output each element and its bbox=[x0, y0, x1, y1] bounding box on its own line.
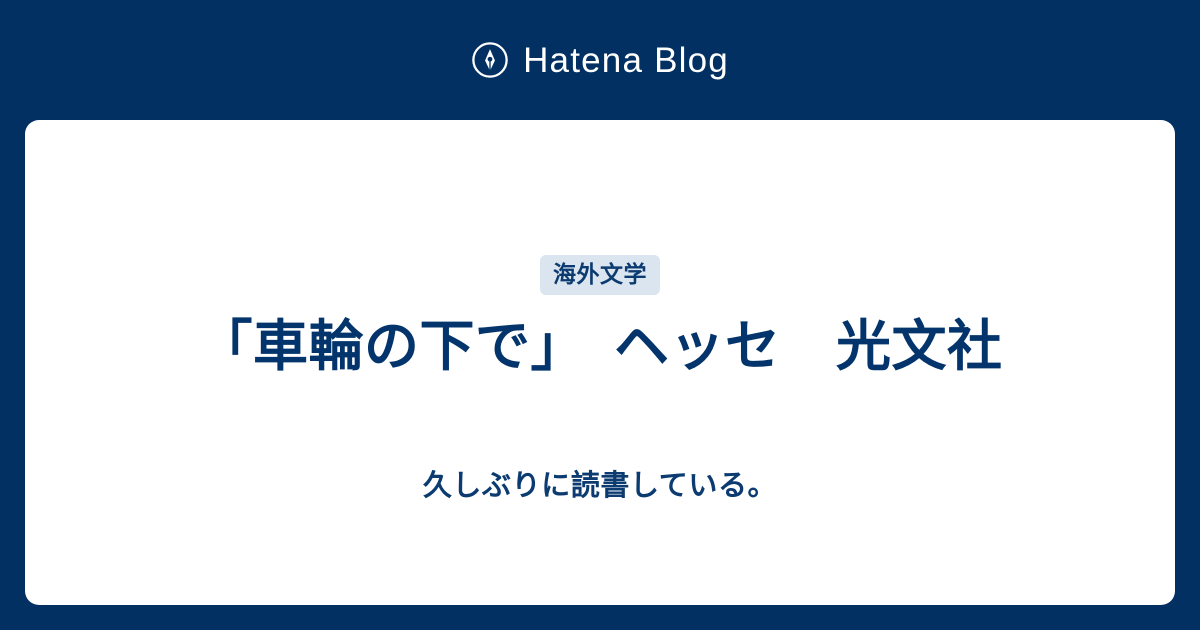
entry-content-card: 海外文学 「車輪の下で」 ヘッセ 光文社 久しぶりに読書している。 bbox=[25, 120, 1175, 605]
blog-name: 久しぶりに読書している。 bbox=[423, 471, 777, 503]
category-badge[interactable]: 海外文学 bbox=[540, 255, 660, 295]
brand-wordmark: Hatena Blog bbox=[523, 43, 729, 78]
hatena-pen-nib-icon bbox=[471, 41, 509, 79]
hatena-blog-ogp-card: Hatena Blog 海外文学 「車輪の下で」 ヘッセ 光文社 久しぶりに読書… bbox=[0, 0, 1200, 630]
brand-header: Hatena Blog bbox=[0, 0, 1200, 120]
entry-title: 「車輪の下で」 ヘッセ 光文社 bbox=[167, 317, 1032, 376]
